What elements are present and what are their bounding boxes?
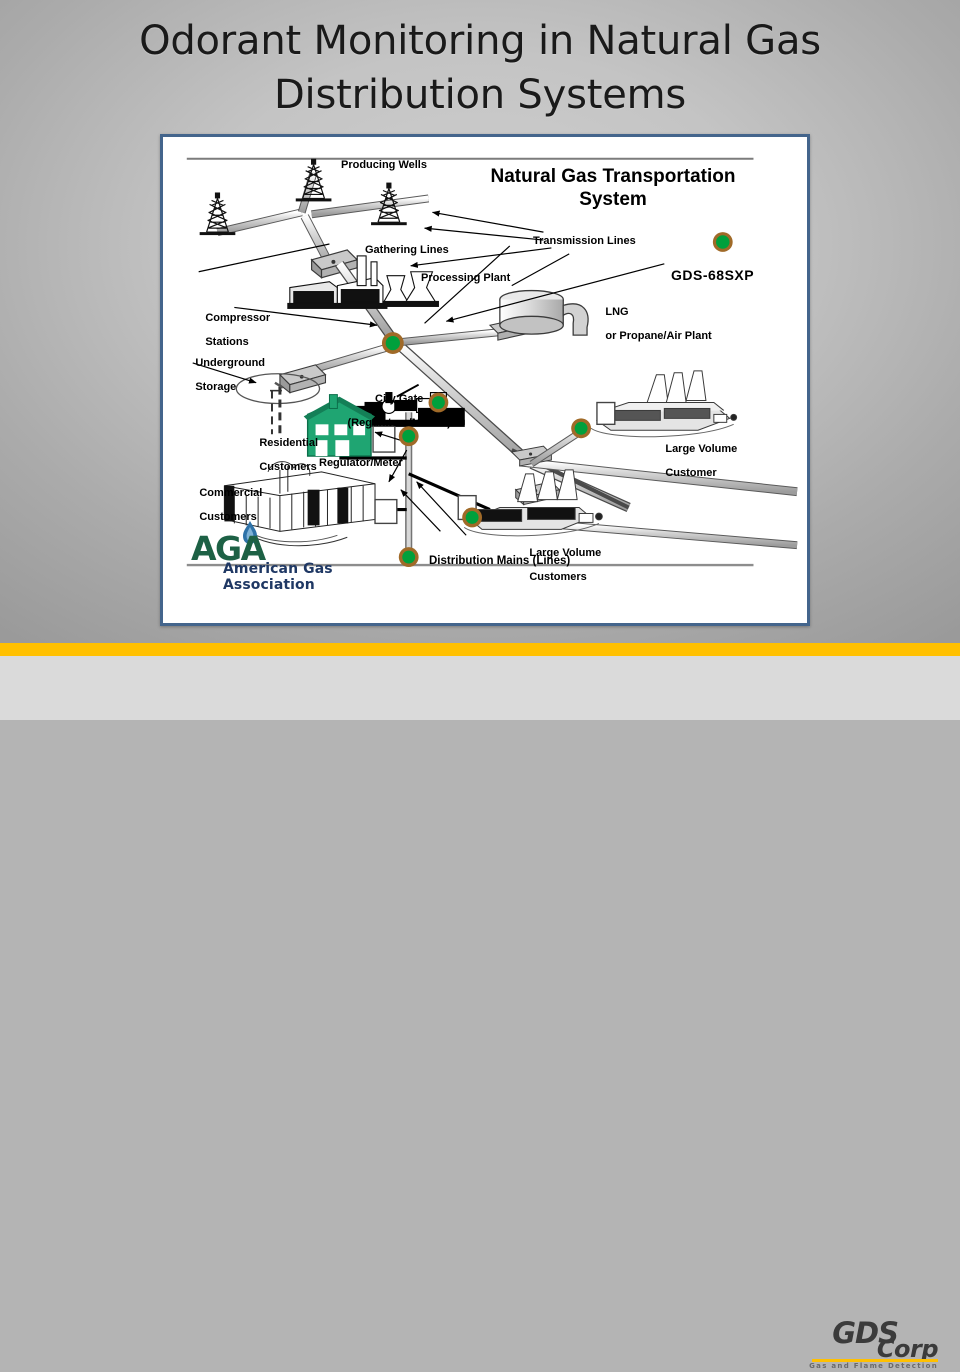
diagram-heading-line-1: Natural Gas Transportation [491,166,736,187]
label-large-volume-customers-line-2: Customers [529,571,586,583]
page-title-line-2: Distribution Systems [60,68,900,122]
diagram-panel: Natural Gas Transportation System GDS-68… [160,134,810,626]
label-residential-line-2: Customers [259,461,316,473]
label-residential-line-1: Residential [259,437,318,449]
label-lng-line-1: LNG [605,306,628,318]
label-commercial-line-1: Commercial [199,487,262,499]
page-title: Odorant Monitoring in Natural Gas Distri… [60,14,900,122]
label-city-gate-line-1: City Gate [375,393,423,405]
diagram-heading-line-2: System [579,189,647,210]
label-underground-storage: Underground Storage [177,345,265,405]
label-city-gate: City Gate (Regulators/Meters) [325,381,455,441]
label-large-volume-customer: Large Volume Customer [647,431,737,491]
label-underground-storage-line-2: Storage [195,381,236,393]
slide-canvas: Odorant Monitoring in Natural Gas Distri… [0,0,960,720]
label-regulator-meter: Regulator/Meter [319,457,403,469]
label-city-gate-line-2: (Regulators/Meters) [348,417,451,429]
diagram-heading: Natural Gas Transportation System [463,165,763,211]
page-title-line-1: Odorant Monitoring in Natural Gas [60,14,900,68]
slide-footer: GDS Corp Gas and Flame Detection [0,656,960,720]
label-gathering-lines: Gathering Lines [365,244,449,256]
aga-logo: AGA American Gas Association [185,529,425,575]
label-compressor-stations-line-1: Compressor [205,312,270,324]
accent-bar [0,643,960,656]
gds-corp-logo: GDS Corp Gas and Flame Detection [774,1316,944,1372]
label-underground-storage-line-1: Underground [195,357,265,369]
label-transmission-lines: Transmission Lines [533,235,636,247]
aga-full-name: American Gas Association [223,561,425,593]
label-producing-wells: Producing Wells [341,159,427,171]
label-large-volume-customer-line-2: Customer [665,467,716,479]
label-distribution-mains: Distribution Mains (Lines) [429,555,570,567]
label-lng-plant: LNG or Propane/Air Plant [587,294,712,354]
gds-tagline: Gas and Flame Detection [809,1362,938,1370]
label-processing-plant: Processing Plant [421,272,510,284]
label-large-volume-customer-line-1: Large Volume [665,443,737,455]
label-lng-line-2: or Propane/Air Plant [605,330,711,342]
gds-sensor-legend-label: GDS-68SXP [671,267,754,283]
